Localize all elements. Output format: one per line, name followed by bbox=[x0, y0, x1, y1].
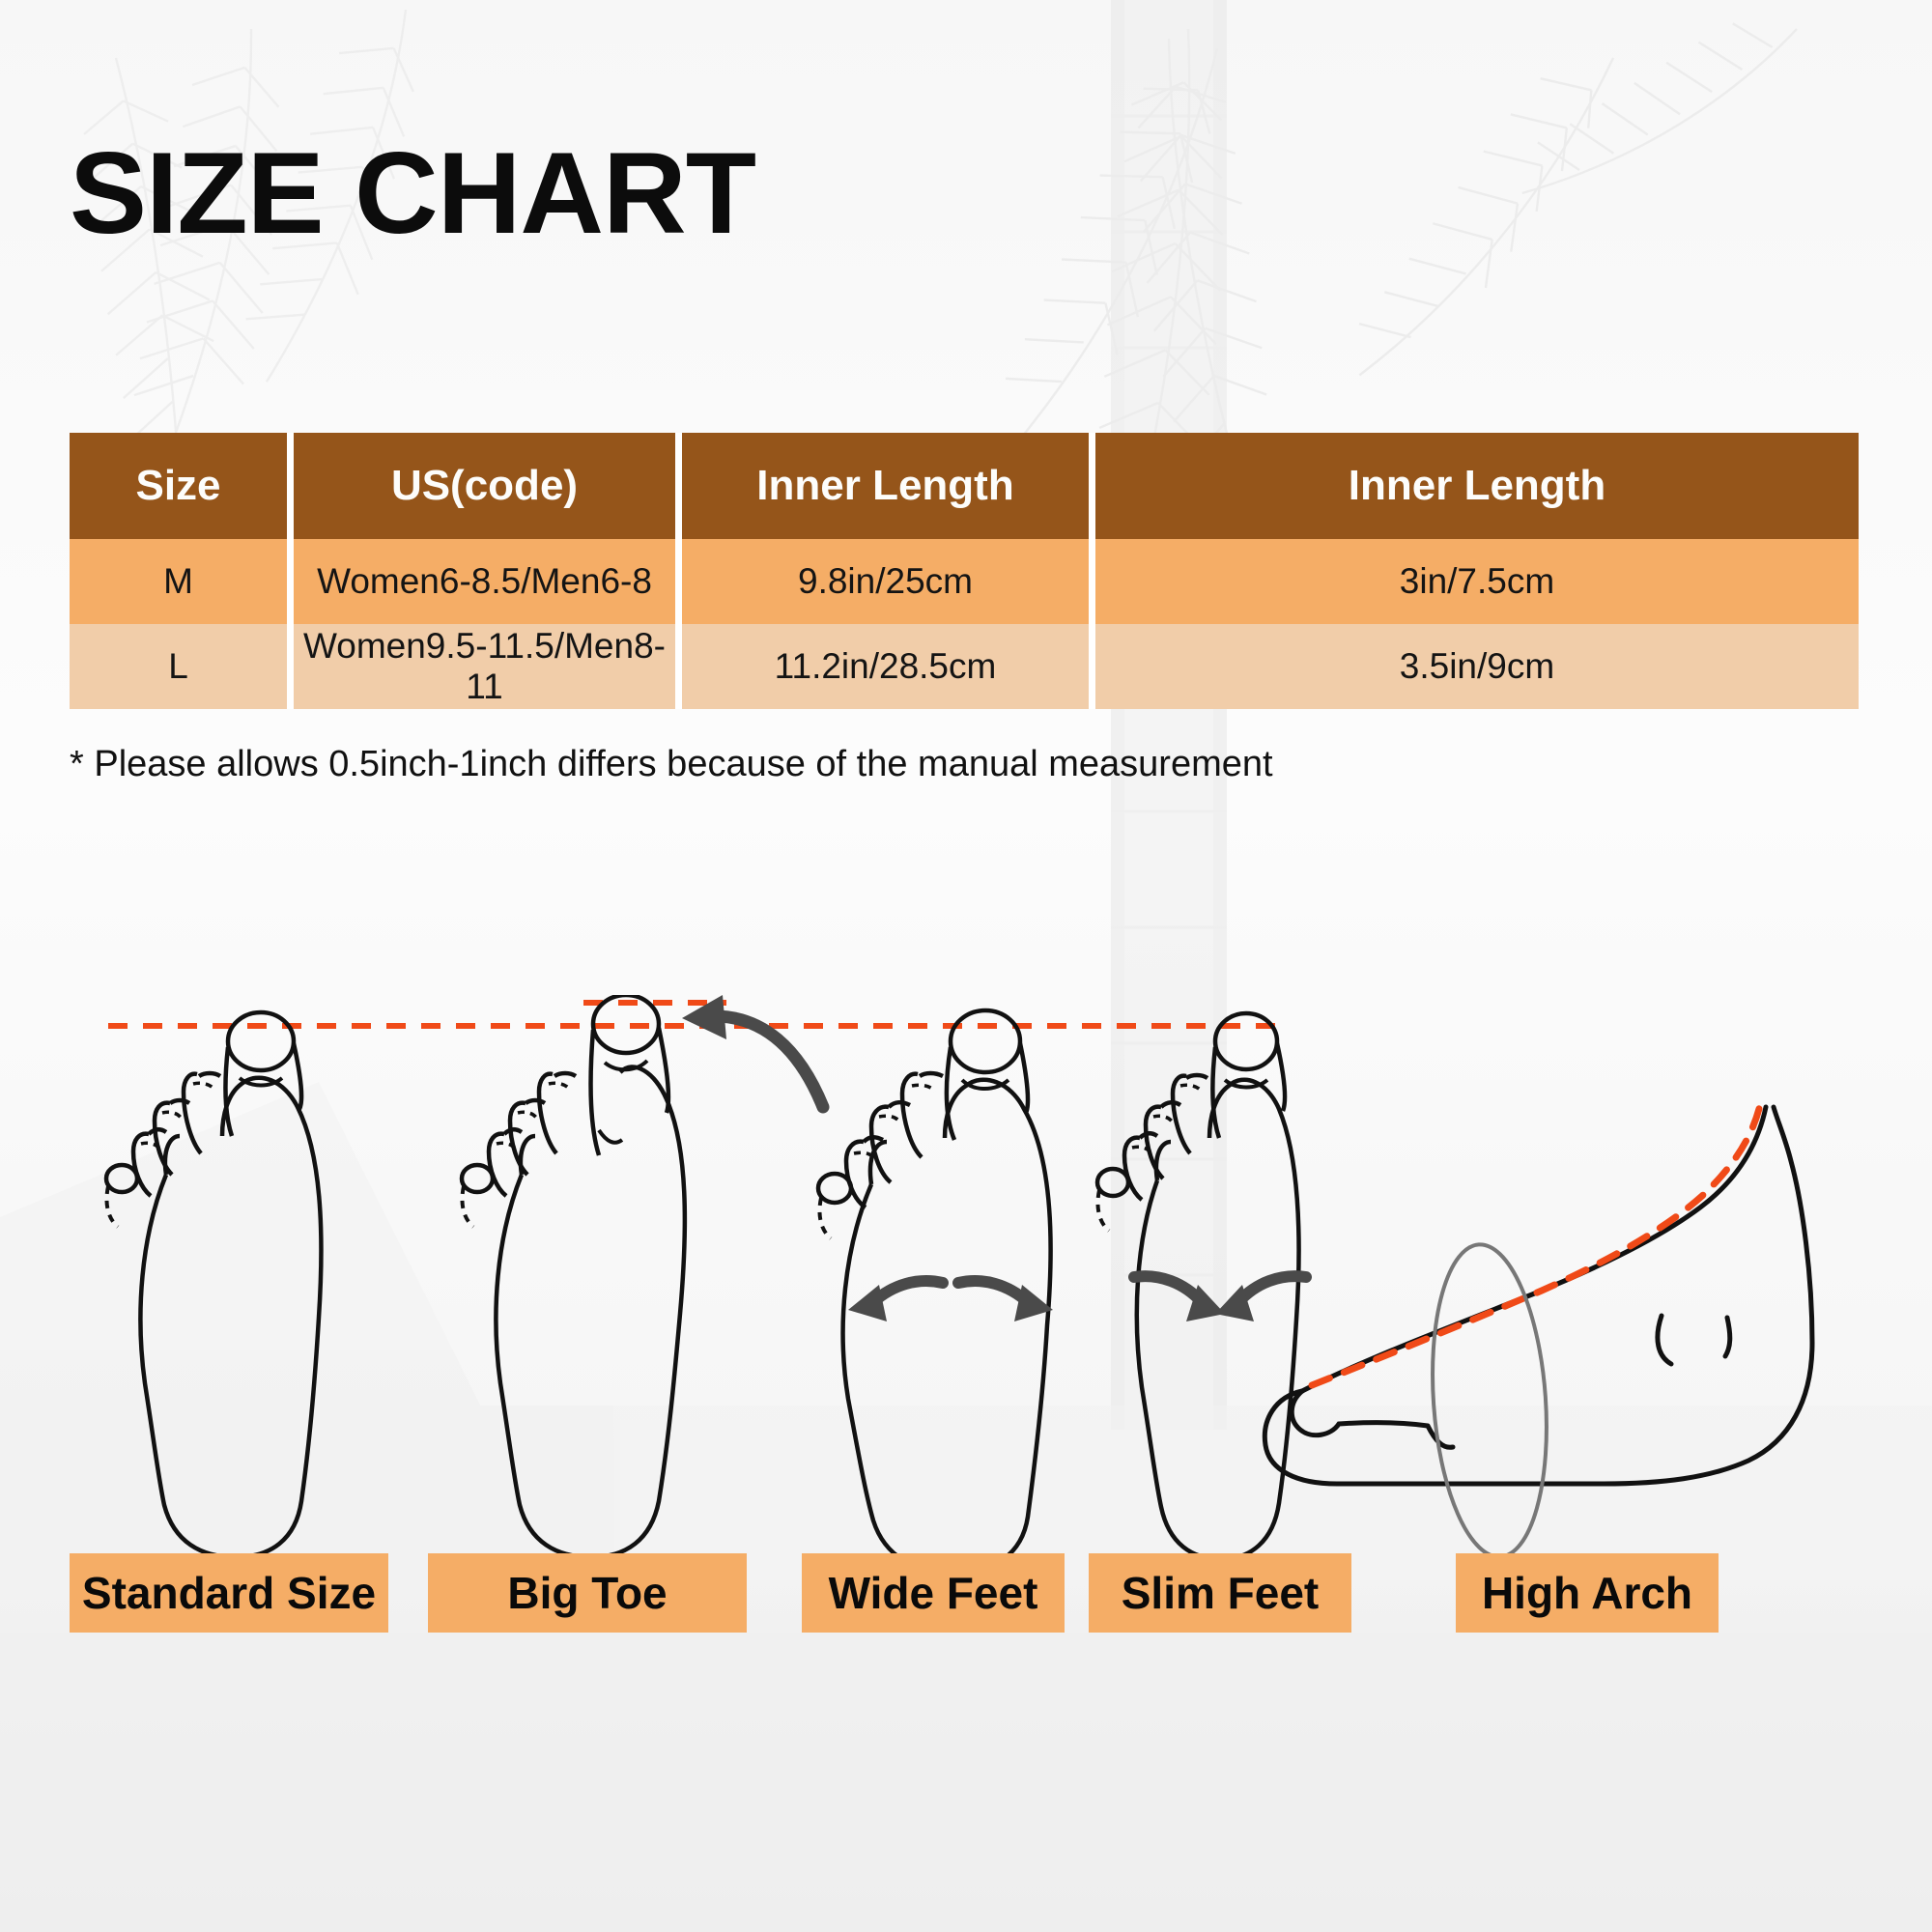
table-row: M Women6-8.5/Men6-8 9.8in/25cm 3in/7.5cm bbox=[70, 539, 1859, 624]
wide-feet-arrows-icon bbox=[848, 1281, 1053, 1321]
column-header-size: Size bbox=[70, 433, 294, 539]
measurement-disclaimer-note: * Please allows 0.5inch-1inch differs be… bbox=[70, 744, 1273, 785]
label-text: High Arch bbox=[1482, 1567, 1692, 1619]
foot-sole-wide-icon bbox=[818, 1010, 1053, 1573]
foot-type-label-standard-size: Standard Size bbox=[70, 1553, 388, 1633]
cell-us-code: Women9.5-11.5/Men8-11 bbox=[294, 624, 682, 709]
foot-type-label-big-toe: Big Toe bbox=[428, 1553, 747, 1633]
foot-type-label-wide-feet: Wide Feet bbox=[802, 1553, 1065, 1633]
big-toe-arrow-icon bbox=[682, 995, 823, 1107]
page-title: SIZE CHART bbox=[70, 135, 755, 251]
foot-type-label-slim-feet: Slim Feet bbox=[1089, 1553, 1351, 1633]
foot-sole-icon bbox=[106, 1012, 321, 1557]
table-row: L Women9.5-11.5/Men8-11 11.2in/28.5cm 3.… bbox=[70, 624, 1859, 709]
label-text: Wide Feet bbox=[829, 1567, 1038, 1619]
cell-us-code: Women6-8.5/Men6-8 bbox=[294, 539, 682, 624]
cell-size: M bbox=[70, 539, 294, 624]
cell-inner-length-2: 3.5in/9cm bbox=[1095, 624, 1859, 709]
label-text: Standard Size bbox=[82, 1567, 376, 1619]
column-header-us-code: US(code) bbox=[294, 433, 682, 539]
label-text: Big Toe bbox=[507, 1567, 667, 1619]
label-text: Slim Feet bbox=[1122, 1567, 1320, 1619]
foot-sole-big-toe-icon bbox=[462, 995, 823, 1557]
slim-feet-arrows-icon bbox=[1134, 1276, 1306, 1321]
cell-inner-length-1: 11.2in/28.5cm bbox=[682, 624, 1095, 709]
column-header-inner-length-1: Inner Length bbox=[682, 433, 1095, 539]
cell-inner-length-2: 3in/7.5cm bbox=[1095, 539, 1859, 624]
foot-diagrams-icon bbox=[0, 995, 1932, 1594]
cell-inner-length-1: 9.8in/25cm bbox=[682, 539, 1095, 624]
foot-type-illustrations bbox=[0, 995, 1932, 1594]
foot-side-arch-icon bbox=[1264, 1105, 1812, 1561]
foot-type-label-high-arch: High Arch bbox=[1456, 1553, 1719, 1633]
size-chart-table: Size US(code) Inner Length Inner Length … bbox=[70, 433, 1859, 709]
cell-size: L bbox=[70, 624, 294, 709]
column-header-inner-length-2: Inner Length bbox=[1095, 433, 1859, 539]
arch-height-dashed-line bbox=[1312, 1105, 1760, 1385]
foot-sole-slim-icon bbox=[1097, 1013, 1306, 1559]
table-header-row: Size US(code) Inner Length Inner Length bbox=[70, 433, 1859, 539]
arch-girth-loop-icon bbox=[1423, 1240, 1556, 1560]
